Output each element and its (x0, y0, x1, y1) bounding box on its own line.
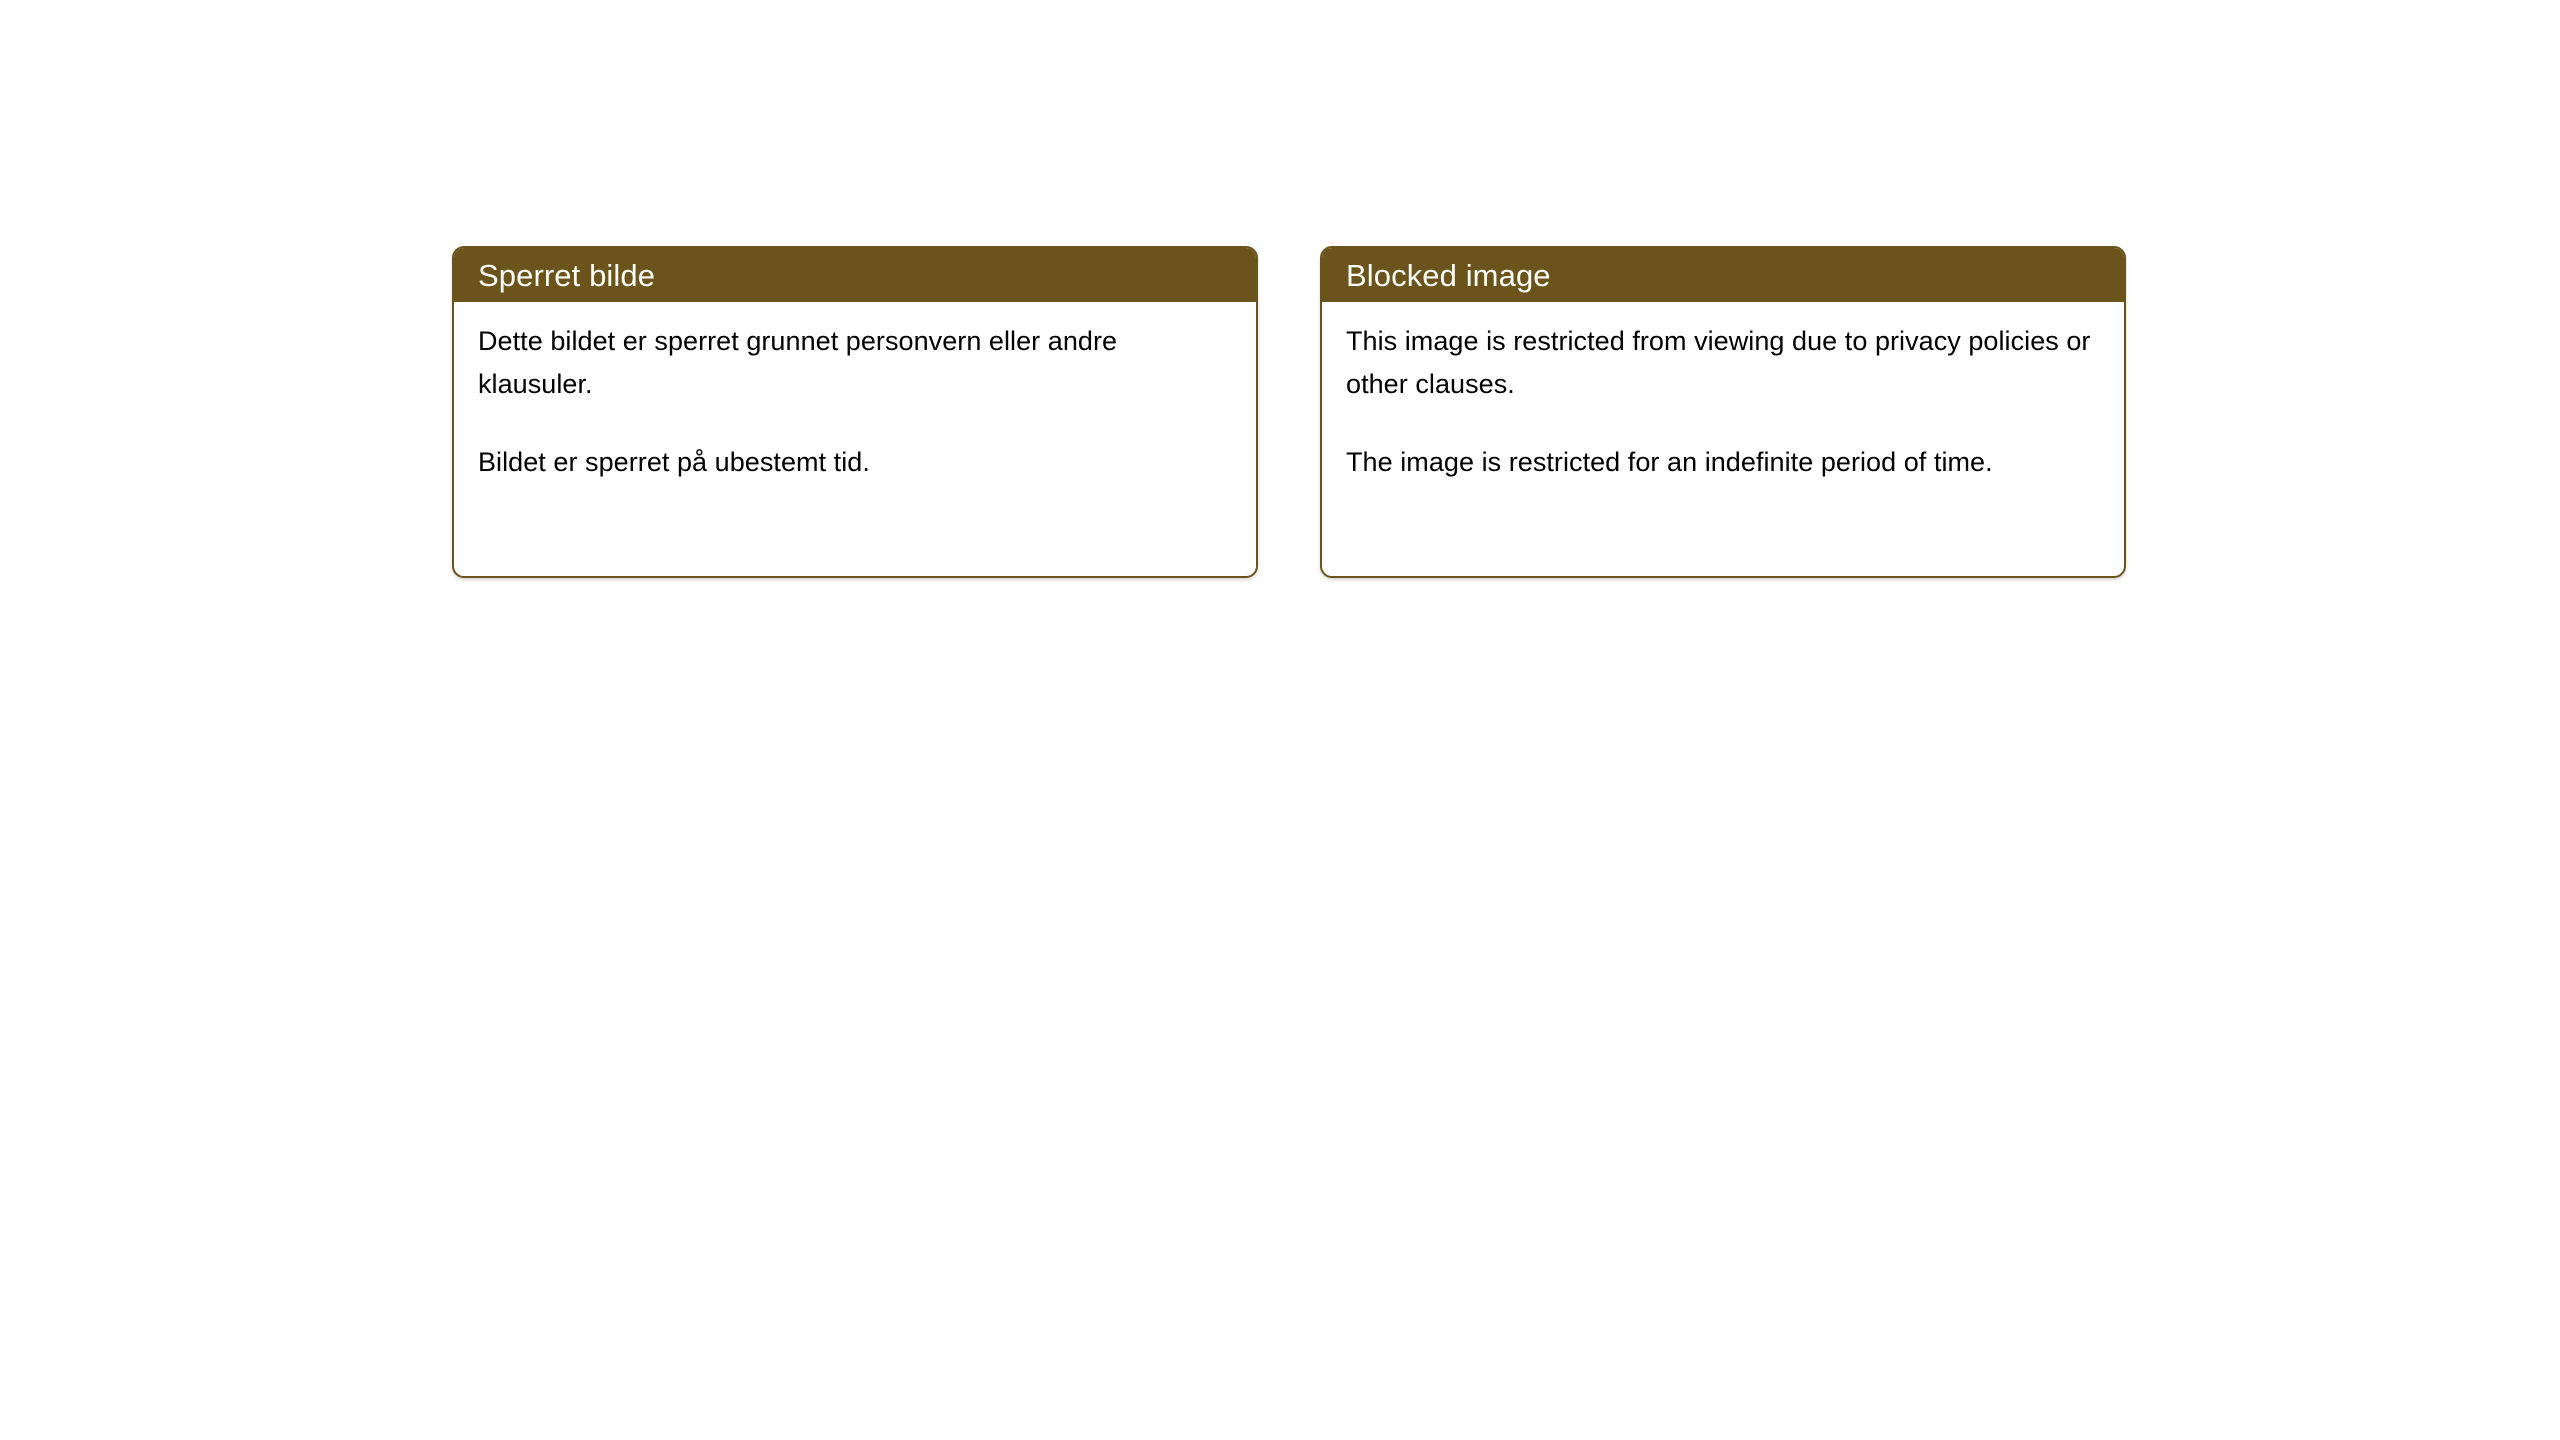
card-paragraph-secondary-no: Bildet er sperret på ubestemt tid. (478, 441, 1232, 484)
card-paragraph-primary-en: This image is restricted from viewing du… (1346, 320, 2100, 406)
card-paragraph-secondary-en: The image is restricted for an indefinit… (1346, 441, 2100, 484)
card-paragraph-primary-no: Dette bildet er sperret grunnet personve… (478, 320, 1232, 406)
blocked-image-card-en: Blocked image This image is restricted f… (1320, 246, 2126, 578)
card-header-en: Blocked image (1322, 248, 2124, 302)
card-title-no: Sperret bilde (478, 260, 655, 291)
blocked-image-card-no: Sperret bilde Dette bildet er sperret gr… (452, 246, 1258, 578)
card-header-no: Sperret bilde (454, 248, 1256, 302)
card-body-no: Dette bildet er sperret grunnet personve… (454, 302, 1256, 484)
card-title-en: Blocked image (1346, 260, 1551, 291)
page-canvas: Sperret bilde Dette bildet er sperret gr… (0, 0, 2560, 1440)
card-body-en: This image is restricted from viewing du… (1322, 302, 2124, 484)
